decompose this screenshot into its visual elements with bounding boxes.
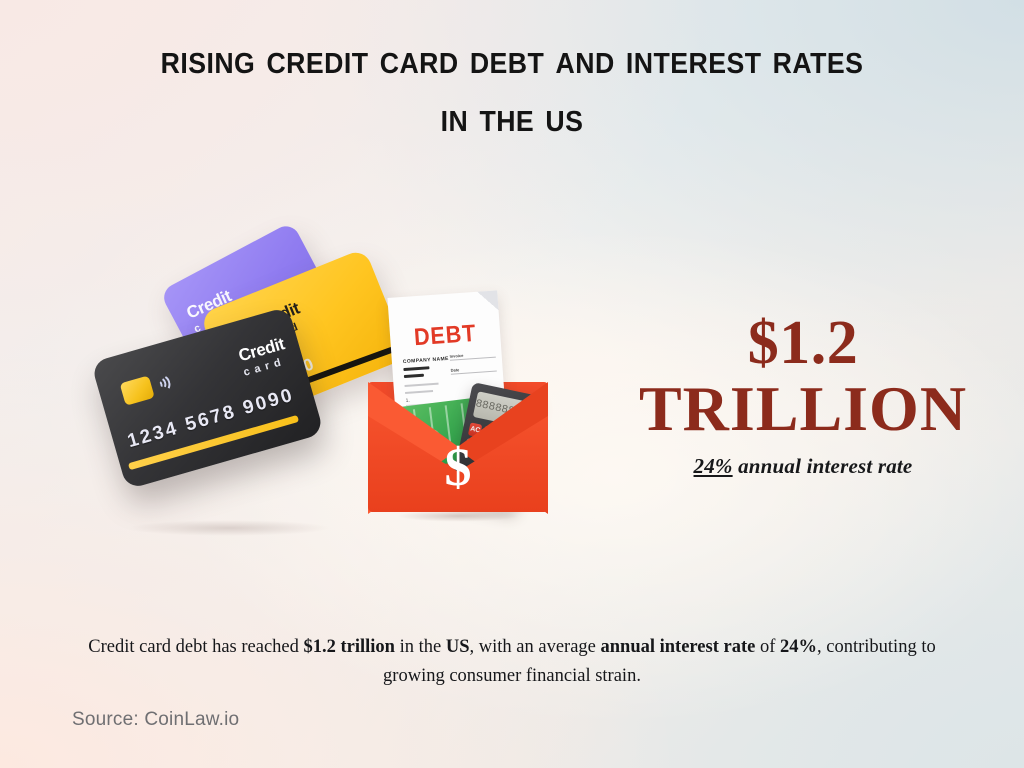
caption-text: Credit card debt has reached $1.2 trilli… <box>82 633 942 691</box>
stat-subtext: 24% annual interest rate <box>608 454 998 479</box>
envelope-drop-shadow <box>374 508 542 524</box>
card-brand-black: Credit card <box>237 335 291 379</box>
debt-heading: DEBT <box>395 319 496 354</box>
caption-part: Credit card debt has reached <box>88 637 303 657</box>
doc-bar <box>404 374 424 378</box>
title-line-1: Rising Credit Card Debt and Interest Rat… <box>41 30 983 88</box>
credit-cards-illustration: Credit card 0090 Credit card 0090 Credit… <box>95 235 405 535</box>
title-line-2: in the US <box>41 88 983 146</box>
credit-card-black: Credit card 1234 5678 9090 <box>91 306 324 489</box>
envelope-dollar-symbol: $ <box>368 440 548 494</box>
caption-part: of <box>755 637 780 657</box>
invoice-field-label: Invoice <box>449 353 463 359</box>
key-statistic: $1.2 TRILLION 24% annual interest rate <box>608 312 998 479</box>
card-chip-icon <box>120 375 155 405</box>
page-title: Rising Credit Card Debt and Interest Rat… <box>0 30 1024 146</box>
stat-rate-value: 24% <box>694 454 733 478</box>
company-name-label: COMPANY NAME <box>403 356 449 365</box>
page-fold-corner <box>477 290 498 311</box>
caption-part: , <box>817 637 822 657</box>
caption-bold-rate-value: 24% <box>780 637 817 657</box>
caption-bold-region: US <box>446 637 470 657</box>
stat-amount: $1.2 <box>608 312 998 374</box>
cards-drop-shadow <box>89 517 369 539</box>
contactless-payment-icon <box>154 372 175 396</box>
caption-part: , with an average <box>470 637 601 657</box>
debt-envelope-illustration: DEBT COMPANY NAME Invoice Date 1. 2. $ 8… <box>368 290 548 530</box>
caption-bold-rate-label: annual interest rate <box>601 637 756 657</box>
caption-bold-amount: $1.2 trillion <box>304 637 395 657</box>
date-field-label: Date <box>450 367 459 373</box>
source-attribution: Source: CoinLaw.io <box>72 709 239 731</box>
stat-unit: TRILLION <box>608 374 998 444</box>
stat-rate-label: annual interest rate <box>733 454 913 478</box>
caption-part: in the <box>395 637 446 657</box>
doc-bar <box>403 366 429 371</box>
